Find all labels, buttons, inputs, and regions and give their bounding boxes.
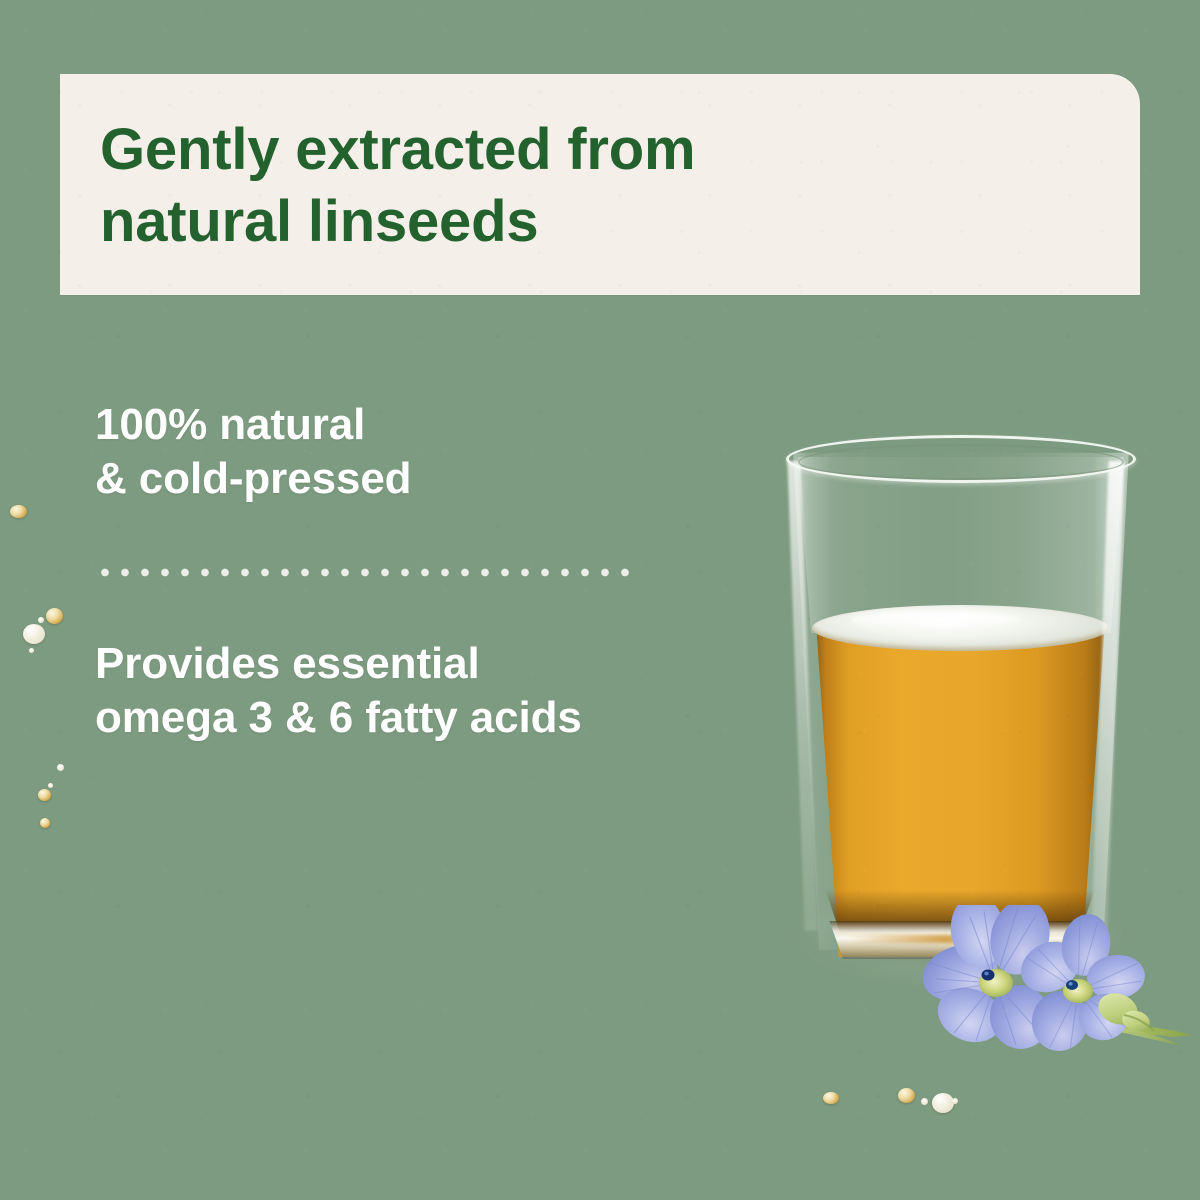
oil-droplet (38, 617, 44, 623)
headline-card: Gently extracted from natural linseeds (60, 74, 1140, 295)
oil-droplet (932, 1093, 954, 1113)
page-title: Gently extracted from natural linseeds (100, 114, 1110, 258)
oil-droplet (23, 624, 45, 644)
oil-surface-sheen (850, 611, 1020, 628)
dotted-divider (95, 567, 639, 578)
oil-droplet (921, 1098, 928, 1105)
glass-rim-inner (798, 444, 1124, 480)
oil-droplet (29, 648, 34, 653)
flax-flower-icon (900, 905, 1200, 1065)
oil-droplet (952, 1098, 958, 1104)
glass-of-oil-image (780, 435, 1140, 980)
claim-omega-fatty-acids: Provides essential omega 3 & 6 fatty aci… (95, 637, 582, 745)
claim-natural-cold-pressed: 100% natural & cold-pressed (95, 398, 411, 506)
oil-droplet (48, 783, 53, 788)
oil-droplet (57, 764, 64, 771)
oil-droplet (823, 1092, 839, 1104)
oil-droplet (898, 1088, 915, 1103)
oil-droplet (40, 818, 50, 828)
oil-droplet (46, 608, 63, 624)
oil-droplet (10, 505, 27, 518)
oil-droplet (38, 789, 51, 801)
product-benefits-poster: Gently extracted from natural linseeds 1… (0, 0, 1200, 1200)
